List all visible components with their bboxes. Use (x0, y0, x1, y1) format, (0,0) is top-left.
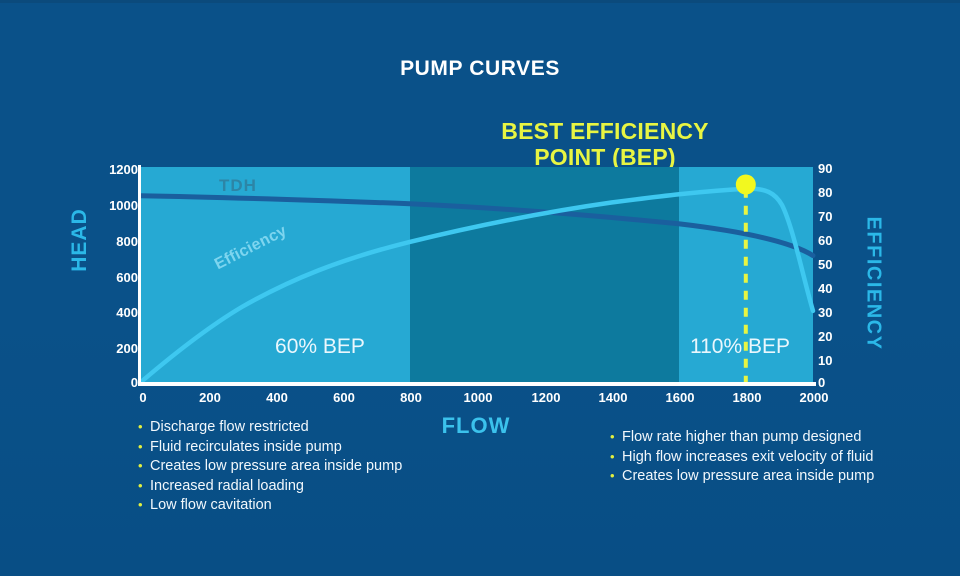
x-axis-tick-1000: 1000 (448, 390, 508, 405)
left-axis-tick-400: 400 (78, 305, 138, 320)
x-axis-tick-800: 800 (381, 390, 441, 405)
x-axis-tick-1800: 1800 (717, 390, 777, 405)
bep-callout-line-1: BEST EFFICIENCY (430, 118, 780, 144)
low-flow-consequences-list: Discharge flow restricted Fluid recircul… (138, 418, 402, 516)
list-item: Discharge flow restricted (138, 418, 402, 438)
list-item: High flow increases exit velocity of flu… (610, 448, 874, 468)
x-axis-tick-600: 600 (314, 390, 374, 405)
bep-point-marker (736, 175, 756, 195)
right-axis-tick-40: 40 (818, 281, 858, 296)
x-axis-tick-400: 400 (247, 390, 307, 405)
top-edge-divider (0, 0, 960, 3)
right-axis-title: EFFICIENCY (861, 217, 884, 351)
zone-label-60-bep: 60% BEP (200, 335, 440, 359)
list-item: Creates low pressure area inside pump (610, 467, 874, 487)
right-axis-tick-90: 90 (818, 161, 858, 176)
right-axis-tick-70: 70 (818, 209, 858, 224)
x-axis-tick-200: 200 (180, 390, 240, 405)
x-axis-tick-0: 0 (113, 390, 173, 405)
tdh-curve-label: TDH (219, 176, 257, 196)
bep-callout-title: BEST EFFICIENCY POINT (BEP) (430, 118, 780, 170)
left-axis-tick-600: 600 (78, 270, 138, 285)
left-axis-title: HEAD (68, 208, 92, 272)
x-axis-title: FLOW (396, 413, 556, 439)
x-axis-tick-2000: 2000 (784, 390, 844, 405)
right-axis-tick-80: 80 (818, 185, 858, 200)
list-item: Low flow cavitation (138, 496, 402, 516)
right-axis-tick-60: 60 (818, 233, 858, 248)
list-item: Fluid recirculates inside pump (138, 438, 402, 458)
pump-curves-infographic: PUMP CURVES BEST EFFICIENCY POINT (BEP) … (0, 0, 960, 576)
x-axis-spine (138, 382, 816, 386)
high-flow-consequences-list: Flow rate higher than pump designed High… (610, 428, 874, 487)
list-item: Flow rate higher than pump designed (610, 428, 874, 448)
right-axis-tick-30: 30 (818, 305, 858, 320)
left-axis-tick-200: 200 (78, 341, 138, 356)
list-item: Creates low pressure area inside pump (138, 457, 402, 477)
right-axis-tick-0: 0 (818, 375, 858, 390)
x-axis-tick-1600: 1600 (650, 390, 710, 405)
list-item: Increased radial loading (138, 477, 402, 497)
x-axis-tick-1200: 1200 (516, 390, 576, 405)
left-axis-tick-1200: 1200 (78, 162, 138, 177)
right-axis-tick-50: 50 (818, 257, 858, 272)
left-axis-spine (138, 165, 141, 384)
zone-label-110-bep: 110% BEP (635, 335, 845, 359)
page-title: PUMP CURVES (0, 57, 960, 81)
left-axis-tick-0: 0 (78, 375, 138, 390)
x-axis-tick-1400: 1400 (583, 390, 643, 405)
